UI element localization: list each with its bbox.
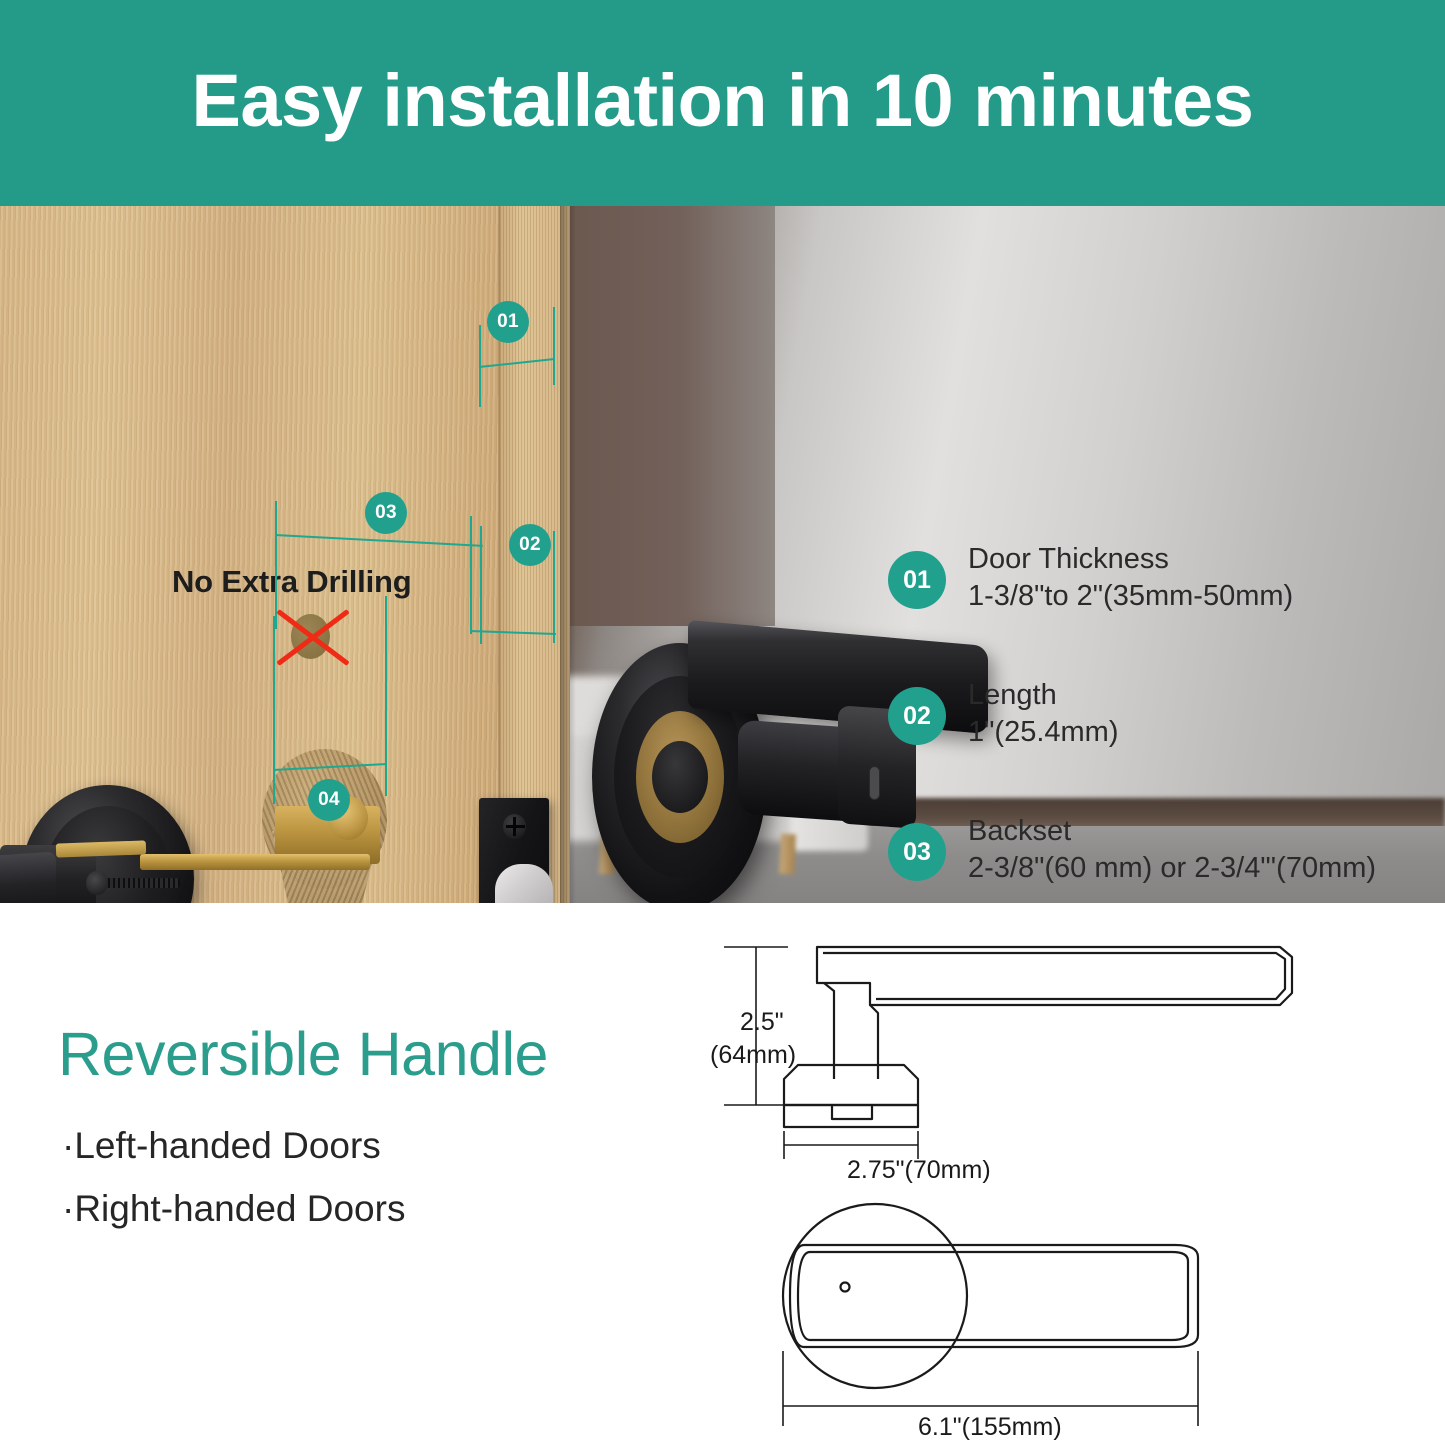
room-wall-dark-panel — [560, 206, 775, 626]
spec-label-03: Backset — [968, 813, 1376, 850]
reversible-bullet-left: ·Left-handed Doors — [62, 1125, 381, 1167]
reversible-bullet-right: ·Right-handed Doors — [62, 1188, 405, 1230]
badge-01: 01 — [487, 301, 529, 343]
dim-line-04-left — [273, 616, 275, 804]
spec-badge-03: 03 — [888, 823, 946, 881]
side-view-height-label-line2: (64mm) — [710, 1041, 796, 1070]
usb-port-icon — [869, 766, 880, 800]
banner-title: Easy installation in 10 minutes — [192, 64, 1254, 138]
spec-value-02: 1"(25.4mm) — [968, 714, 1119, 751]
no-extra-drilling-label: No Extra Drilling — [172, 564, 411, 600]
mounting-screw-head — [86, 871, 108, 895]
sofa-leg — [779, 834, 796, 875]
reversible-handle-section: Reversible Handle ·Left-handed Doors ·Ri… — [0, 903, 1445, 1445]
handle-lever-left — [0, 851, 56, 903]
spec-text-01: Door Thickness 1-3/8"to 2"(35mm-50mm) — [968, 539, 1293, 615]
badge-02: 02 — [509, 524, 551, 566]
top-view-drawing — [720, 1201, 1340, 1445]
spec-label-02: Length — [968, 677, 1119, 714]
spec-text-03: Backset 2-3/8"(60 mm) or 2-3/4"'(70mm) — [968, 811, 1376, 887]
dim-line-04-right — [385, 596, 387, 796]
spec-value-01: 1-3/8"to 2"(35mm-50mm) — [968, 578, 1293, 615]
dim-line-02-right — [553, 531, 555, 643]
faceplate-screw-top — [503, 814, 526, 839]
brass-spindle — [140, 854, 370, 870]
dim-line-03-right — [480, 526, 482, 644]
spec-list: 01 Door Thickness 1-3/8"to 2"(35mm-50mm)… — [888, 539, 1433, 903]
door-edge-shadow — [560, 206, 576, 903]
spec-badge-02: 02 — [888, 687, 946, 745]
spec-text-02: Length 1"(25.4mm) — [968, 675, 1119, 751]
product-infographic: Easy installation in 10 minutes No Extra… — [0, 0, 1445, 1445]
dim-line-02-left — [470, 516, 472, 634]
dim-line-03-left — [275, 501, 277, 629]
spec-row-01: 01 Door Thickness 1-3/8"to 2"(35mm-50mm) — [888, 539, 1433, 631]
header-banner: Easy installation in 10 minutes — [0, 0, 1445, 206]
side-view-width-label: 2.75"(70mm) — [847, 1156, 991, 1185]
spec-row-02: 02 Length 1"(25.4mm) — [888, 675, 1433, 767]
technical-drawings: 2.5" (64mm) 2.75"(70mm) — [700, 913, 1400, 1443]
exploded-rosette-hub — [652, 741, 708, 813]
badge-04: 04 — [308, 779, 350, 821]
spec-label-01: Door Thickness — [968, 541, 1293, 578]
red-x-icon — [269, 598, 353, 676]
side-view-height-label-line1: 2.5" — [740, 1008, 784, 1037]
spec-value-03: 2-3/8"(60 mm) or 2-3/4"'(70mm) — [968, 850, 1376, 887]
installation-photo: No Extra Drilling 01 — [0, 206, 1445, 903]
side-view-drawing — [720, 931, 1340, 1191]
latch-bolt — [495, 864, 553, 903]
reversible-title: Reversible Handle — [58, 1019, 548, 1089]
spec-badge-01: 01 — [888, 551, 946, 609]
spec-row-03: 03 Backset 2-3/8"(60 mm) or 2-3/4"'(70mm… — [888, 811, 1433, 903]
top-view-length-label: 6.1"(155mm) — [918, 1413, 1062, 1442]
badge-03: 03 — [365, 492, 407, 534]
dim-line-01-right — [553, 307, 555, 385]
